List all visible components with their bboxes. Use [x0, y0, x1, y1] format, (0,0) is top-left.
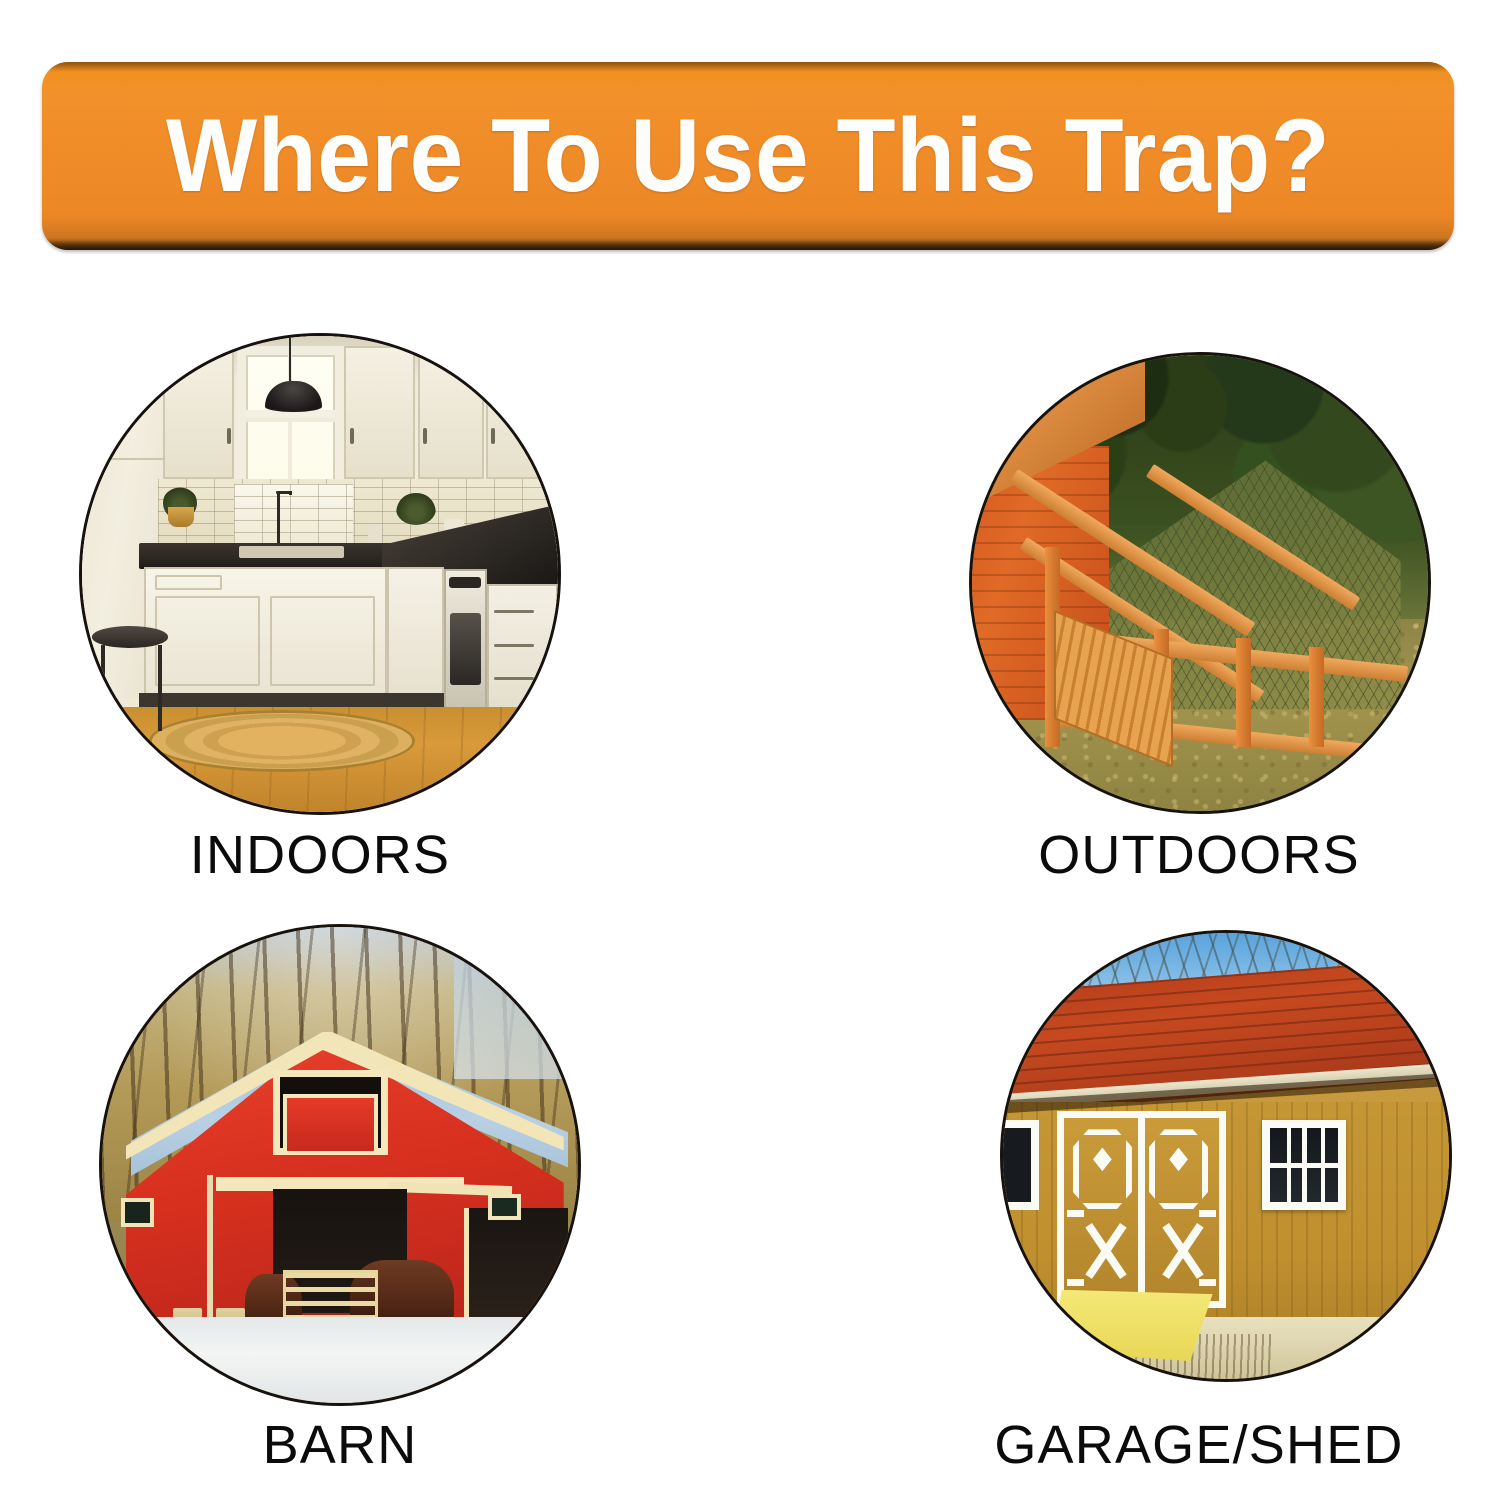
shed-doors — [1057, 1111, 1226, 1307]
kitchen-scene — [82, 336, 558, 812]
barn-image-frame — [99, 924, 581, 1406]
indoors-image-frame — [79, 333, 561, 815]
indoors-label: INDOORS — [79, 828, 561, 882]
outdoors-label: OUTDOORS — [949, 828, 1449, 882]
garage-shed-photo — [1000, 930, 1452, 1382]
page-title: Where To Use This Trap? — [166, 104, 1330, 208]
outdoors-image-frame — [969, 352, 1431, 814]
red-barn-scene — [102, 927, 578, 1403]
garage-shed-image-frame — [1000, 930, 1452, 1382]
chicken-coop-scene — [972, 355, 1428, 811]
garage-shed-scene — [1003, 933, 1449, 1379]
kitchen-photo — [79, 333, 561, 815]
red-barn-photo — [99, 924, 581, 1406]
barn-label: BARN — [99, 1418, 581, 1472]
garage-shed-label: GARAGE/SHED — [949, 1418, 1449, 1472]
where-to-use-this-trap-infographic: Where To Use This Trap? — [0, 0, 1500, 1500]
chicken-coop-photo — [969, 352, 1431, 814]
header-banner: Where To Use This Trap? — [42, 62, 1454, 250]
